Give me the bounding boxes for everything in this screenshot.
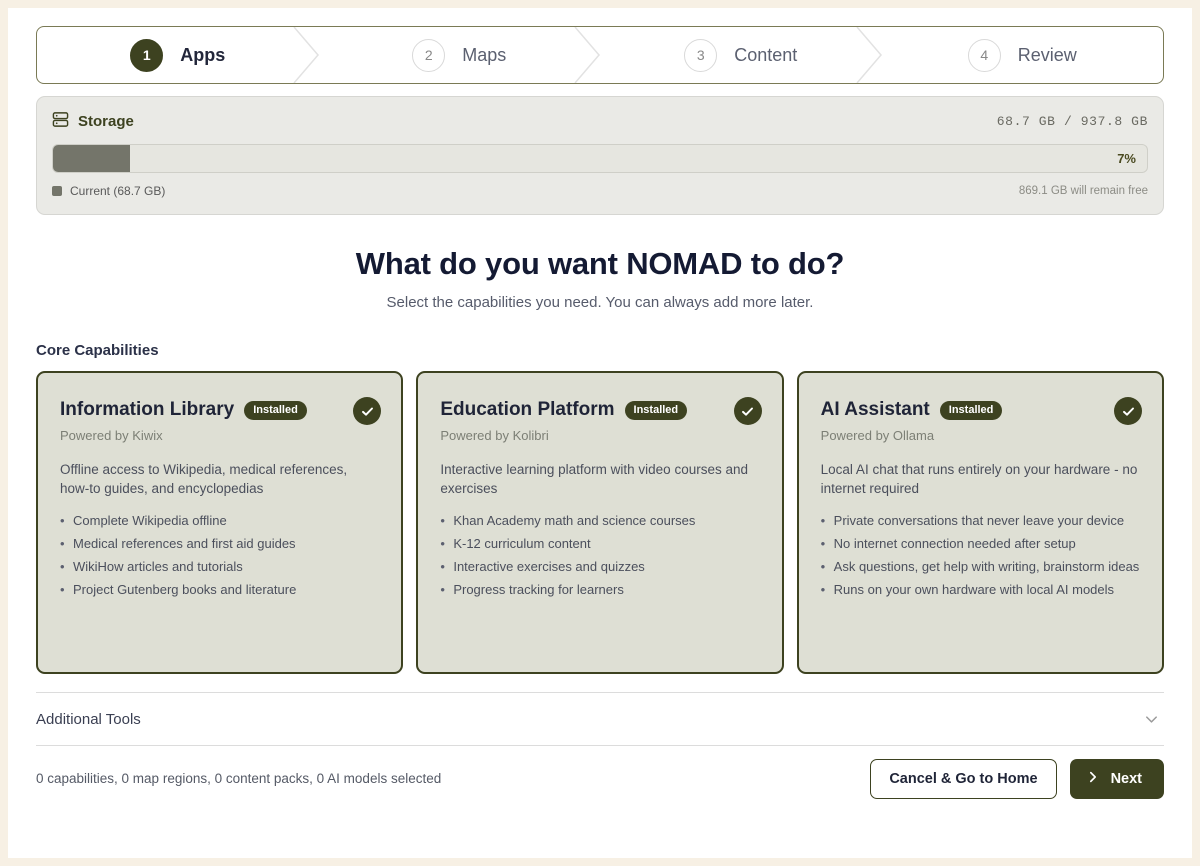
additional-tools-accordion[interactable]: Additional Tools [36,693,1164,745]
card-feature-item: WikiHow articles and tutorials [60,557,379,576]
wizard-stepper: 1 Apps 2 Maps 3 Content 4 Review [36,26,1164,84]
capability-card-education-platform[interactable]: Education Platform Installed Powered by … [416,371,783,674]
chevron-right-icon [1086,770,1100,788]
storage-legend-label: Current (68.7 GB) [70,184,165,198]
card-powered-by: Powered by Kiwix [60,428,379,443]
storage-capacity-text: 68.7 GB / 937.8 GB [997,114,1148,129]
step-4-review[interactable]: 4 Review [882,27,1164,83]
card-feature-item: Project Gutenberg books and literature [60,580,379,599]
card-title: Information Library [60,399,234,421]
chevron-down-icon[interactable] [1143,711,1164,728]
setup-wizard-window: 1 Apps 2 Maps 3 Content 4 Review [8,8,1192,858]
footer-actions: Cancel & Go to Home Next [870,759,1164,799]
legend-color-swatch [52,186,62,196]
capability-card-grid: Information Library Installed Powered by… [36,371,1164,674]
card-feature-list: Private conversations that never leave y… [821,511,1140,599]
storage-title-group: Storage [52,111,134,132]
card-feature-list: Khan Academy math and science courses K-… [440,511,759,599]
card-description: Local AI chat that runs entirely on your… [821,460,1140,498]
card-feature-item: K-12 curriculum content [440,534,759,553]
card-title-row: Information Library Installed [60,399,379,421]
storage-progress-fill [53,145,130,172]
additional-tools-label: Additional Tools [36,711,141,728]
step-2-label: Maps [462,45,506,66]
cancel-go-home-button[interactable]: Cancel & Go to Home [870,759,1056,799]
card-title: AI Assistant [821,399,930,421]
card-powered-by: Powered by Ollama [821,428,1140,443]
selected-check-icon[interactable] [1114,397,1142,425]
storage-progress-bar: 7% [52,144,1148,173]
wizard-footer: 0 capabilities, 0 map regions, 0 content… [36,745,1164,811]
next-button[interactable]: Next [1070,759,1164,799]
page-title: What do you want NOMAD to do? [36,246,1164,282]
card-description: Interactive learning platform with video… [440,460,759,498]
storage-footer: Current (68.7 GB) 869.1 GB will remain f… [52,184,1148,198]
installed-badge: Installed [625,401,688,420]
capability-card-ai-assistant[interactable]: AI Assistant Installed Powered by Ollama… [797,371,1164,674]
card-feature-item: Medical references and first aid guides [60,534,379,553]
capability-card-information-library[interactable]: Information Library Installed Powered by… [36,371,403,674]
storage-legend: Current (68.7 GB) [52,184,165,198]
card-feature-item: Runs on your own hardware with local AI … [821,580,1140,599]
step-2-number: 2 [412,39,445,72]
card-feature-list: Complete Wikipedia offline Medical refer… [60,511,379,599]
card-feature-item: No internet connection needed after setu… [821,534,1140,553]
storage-panel: Storage 68.7 GB / 937.8 GB 7% Current (6… [36,96,1164,215]
storage-label: Storage [78,113,134,130]
step-4-label: Review [1018,45,1077,66]
card-title-row: Education Platform Installed [440,399,759,421]
card-feature-item: Private conversations that never leave y… [821,511,1140,530]
card-feature-item: Khan Academy math and science courses [440,511,759,530]
card-title-row: AI Assistant Installed [821,399,1140,421]
installed-badge: Installed [244,401,307,420]
step-1-apps[interactable]: 1 Apps [37,27,319,83]
card-powered-by: Powered by Kolibri [440,428,759,443]
step-3-label: Content [734,45,797,66]
step-separator-icon [855,27,883,83]
selected-check-icon[interactable] [734,397,762,425]
card-feature-item: Complete Wikipedia offline [60,511,379,530]
step-2-maps[interactable]: 2 Maps [319,27,601,83]
card-feature-item: Ask questions, get help with writing, br… [821,557,1140,576]
server-icon [52,111,69,132]
installed-badge: Installed [940,401,1003,420]
step-3-number: 3 [684,39,717,72]
core-capabilities-heading: Core Capabilities [36,342,1164,359]
step-3-content[interactable]: 3 Content [600,27,882,83]
step-4-number: 4 [968,39,1001,72]
step-1-label: Apps [180,45,225,66]
card-feature-item: Interactive exercises and quizzes [440,557,759,576]
storage-header: Storage 68.7 GB / 937.8 GB [52,110,1148,132]
step-separator-icon [573,27,601,83]
step-1-number: 1 [130,39,163,72]
step-separator-icon [292,27,320,83]
next-button-label: Next [1111,771,1142,787]
page-subtitle: Select the capabilities you need. You ca… [36,294,1164,311]
storage-free-note: 869.1 GB will remain free [1019,185,1148,197]
storage-percent-label: 7% [1117,145,1136,172]
selection-summary: 0 capabilities, 0 map regions, 0 content… [36,771,441,786]
card-feature-item: Progress tracking for learners [440,580,759,599]
card-description: Offline access to Wikipedia, medical ref… [60,460,379,498]
card-title: Education Platform [440,399,614,421]
